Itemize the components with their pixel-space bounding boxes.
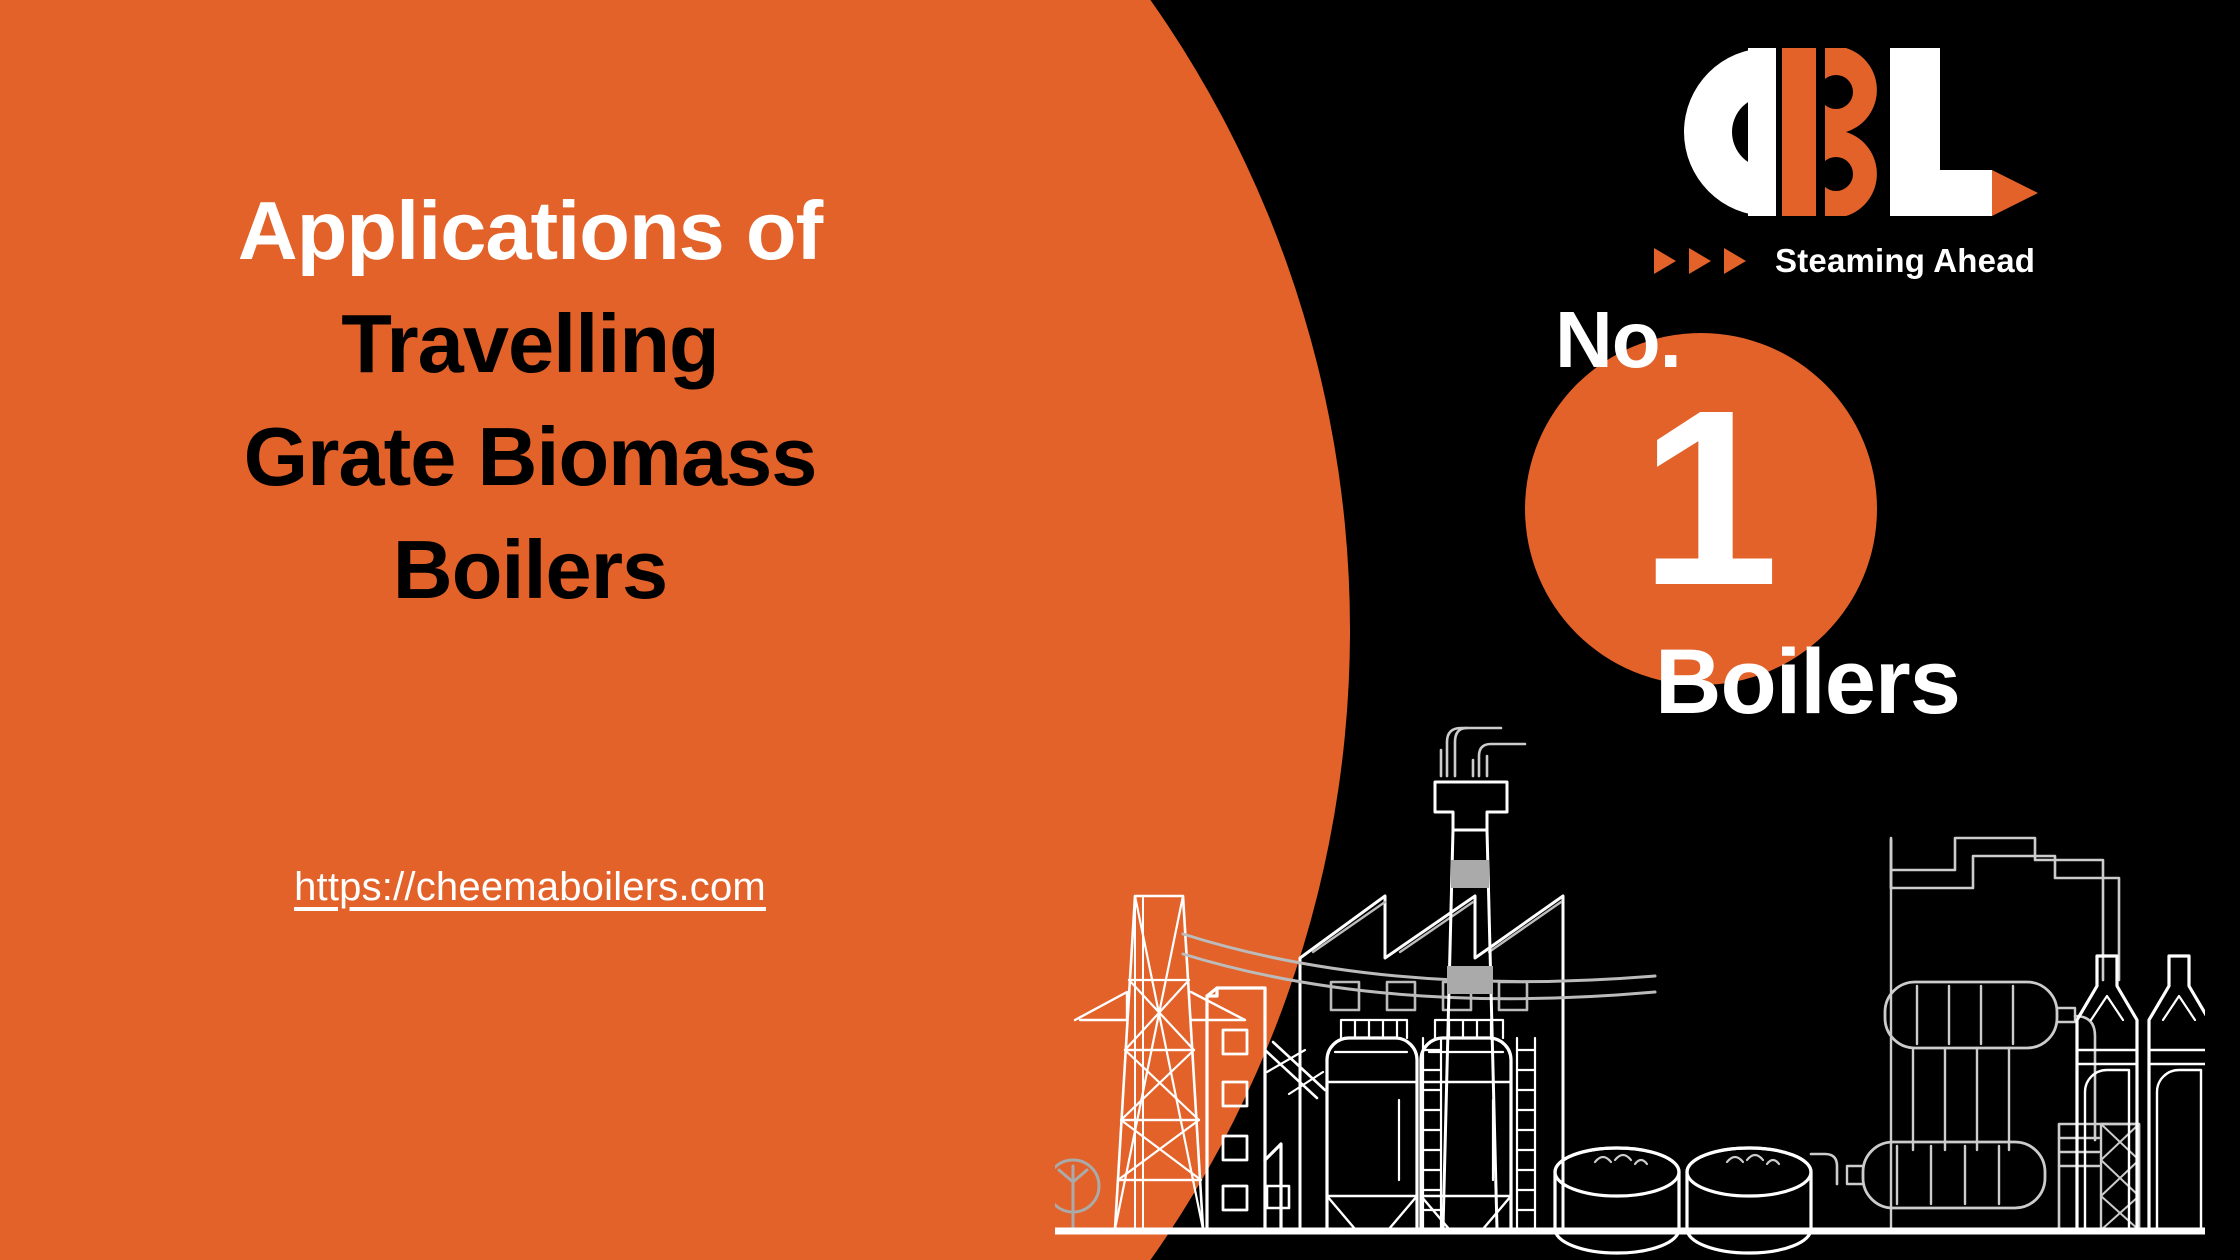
office-building <box>1207 988 1325 1229</box>
no-1-boilers-badge: No. 1 Boilers <box>1490 300 2110 720</box>
industrial-factory-illustration <box>1055 720 2205 1260</box>
badge-number: 1 <box>1640 373 1777 623</box>
title-line-2: Travelling <box>0 288 1060 401</box>
horizontal-pressure-vessel-bottom <box>1847 1142 2045 1208</box>
title-line-4: Boilers <box>0 514 1060 627</box>
title-line-1: Applications of <box>0 175 1060 288</box>
logo-tagline-row: Steaming Ahead <box>1654 242 2035 280</box>
smoke-lines <box>1441 728 1525 776</box>
overhead-piping <box>1811 838 2119 1184</box>
logo-tagline: Steaming Ahead <box>1775 242 2035 280</box>
play-triangle-icon <box>1654 248 1676 274</box>
play-triangle-icon <box>1724 248 1746 274</box>
heat-exchanger <box>2059 1124 2139 1230</box>
tree-left <box>1055 1160 1099 1229</box>
distillation-column-right <box>2149 956 2205 1229</box>
poster-canvas: Applications of Travelling Grate Biomass… <box>0 0 2240 1260</box>
horizontal-pressure-vessel-top <box>1885 982 2075 1150</box>
silo-tank-left <box>1327 1020 1417 1229</box>
ladder-right <box>1517 1038 1535 1229</box>
title-line-3: Grate Biomass <box>0 401 1060 514</box>
distillation-column-left <box>2077 956 2137 1229</box>
cbl-logo: Steaming Ahead <box>1640 30 2060 260</box>
page-title: Applications of Travelling Grate Biomass… <box>0 175 1060 627</box>
play-triangle-icon <box>1689 248 1711 274</box>
cbl-logo-mark <box>1640 30 2060 240</box>
website-url-link[interactable]: https://cheemaboilers.com <box>0 865 1060 910</box>
storage-drum-right <box>1687 1148 1811 1253</box>
sawtooth-roof-factory <box>1300 896 1563 1229</box>
badge-word: Boilers <box>1655 636 1960 728</box>
storage-drum-left <box>1555 1148 1679 1253</box>
